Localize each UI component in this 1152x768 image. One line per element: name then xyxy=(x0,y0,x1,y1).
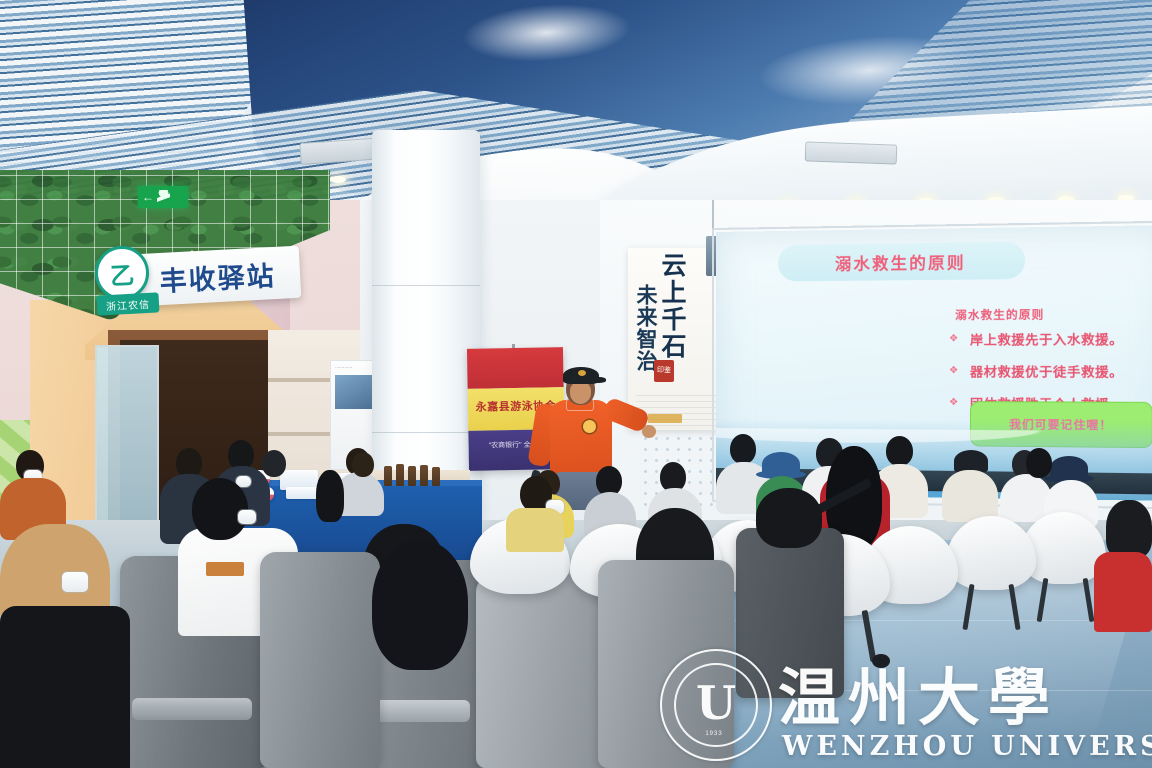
audience-hair xyxy=(756,488,822,548)
audience-head xyxy=(262,450,286,477)
name-badge xyxy=(206,562,244,576)
slide-title-pill: 溺水救生的原则 xyxy=(778,242,1025,282)
photo-scene: 丰收驿站 乙 浙江农信 ← ············· 云上千石 未来智治 印鉴… xyxy=(0,0,1152,768)
poster-image xyxy=(335,375,373,409)
bottle xyxy=(396,464,404,486)
calligraphy-seal-icon: 印鉴 xyxy=(654,360,674,382)
column-seam xyxy=(372,285,480,286)
chair-armrest xyxy=(132,698,252,720)
audience-head xyxy=(886,436,913,466)
chair-caster xyxy=(872,654,890,668)
chair-grey[interactable] xyxy=(598,560,734,768)
audience-head xyxy=(352,452,374,477)
bullet-diamond-icon: ❖ xyxy=(949,333,961,344)
calligraphy-line-secondary: 未来智治 xyxy=(632,284,658,372)
bottle xyxy=(420,465,428,486)
list-item: ❖ 岸上救援先于入水救援。 xyxy=(949,328,1152,348)
poster-caption: ············· xyxy=(335,365,373,371)
face-mask xyxy=(62,572,88,592)
shop-sign-sublabel: 浙江农信 xyxy=(97,292,160,315)
downlight xyxy=(330,176,346,183)
audience-hat xyxy=(954,450,988,472)
cup-stack xyxy=(286,487,320,499)
speaker-cap-logo-icon xyxy=(578,370,586,376)
shop-logo-glyph: 乙 xyxy=(109,255,135,291)
chair-grey-dark[interactable] xyxy=(736,528,844,698)
speaker-hand xyxy=(642,425,656,438)
speaker-face xyxy=(570,382,591,404)
audience-head xyxy=(316,470,344,522)
running-man-icon xyxy=(157,190,170,205)
banner-stripe-red xyxy=(467,347,564,389)
bottle xyxy=(408,466,416,486)
bullet-diamond-icon: ❖ xyxy=(949,365,961,376)
audience-body xyxy=(0,606,130,768)
slide-title: 溺水救生的原则 xyxy=(835,249,966,275)
audience-head xyxy=(1106,500,1152,558)
audience-hair xyxy=(372,540,468,670)
slide-subtitle: 溺水救生的原则 xyxy=(955,306,1044,323)
calligraphy-gold-mark xyxy=(648,414,682,423)
face-mask xyxy=(238,510,256,524)
exit-arrow-icon: ← xyxy=(142,191,154,203)
bottle xyxy=(432,467,440,486)
list-item: ❖ 器材救援优于徒手救援。 xyxy=(949,361,1152,381)
audience-body xyxy=(506,508,564,552)
speaker-shirt-logo xyxy=(583,420,596,433)
audience-head xyxy=(1026,448,1052,478)
shop-sign-text: 丰收驿站 xyxy=(159,253,277,298)
bullet-text: 岸上救援先于入水救援。 xyxy=(970,328,1123,348)
speaker-cap-brim xyxy=(589,377,606,383)
calligraphy-line-main: 云上千石 xyxy=(655,252,685,360)
audience-head xyxy=(192,478,248,540)
audience-head xyxy=(730,434,756,464)
shop-sign-board: 丰收驿站 xyxy=(134,246,301,307)
audience-body xyxy=(1094,552,1152,632)
bullet-text: 器材救援优于徒手救援。 xyxy=(970,361,1123,381)
emergency-exit-sign: ← xyxy=(138,186,188,208)
bullet-diamond-icon: ❖ xyxy=(949,397,961,408)
chair-grey[interactable] xyxy=(260,552,380,768)
column-seam xyxy=(372,432,480,433)
bottle xyxy=(384,466,392,486)
air-vent-right xyxy=(805,141,898,164)
audience-body xyxy=(942,470,998,522)
